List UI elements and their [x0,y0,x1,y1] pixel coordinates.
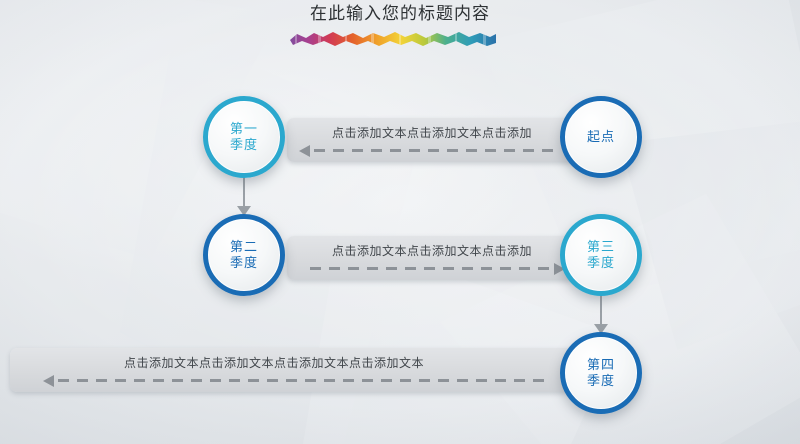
node-q3-label: 第三 季度 [587,239,615,271]
node-q2-label: 第二 季度 [230,239,258,271]
slide-canvas: 在此输入您的标题内容 [0,0,800,444]
node-q1-label: 第一 季度 [230,121,258,153]
slide-title: 在此输入您的标题内容 [0,3,800,25]
dashed-line [58,379,546,382]
node-q1[interactable]: 第一 季度 [203,96,285,178]
arrow-bar-bottom[interactable]: 点击添加文本点击添加文本点击添加文本点击添加文本 [10,348,580,392]
node-q2[interactable]: 第二 季度 [203,214,285,296]
arrow-bar-middle-label: 点击添加文本点击添加文本点击添加 [287,242,577,259]
node-start-label: 起点 [587,129,615,145]
rainbow-brush-stroke-icon [287,29,499,48]
dashed-line [314,149,554,152]
arrow-bar-top[interactable]: 点击添加文本点击添加文本点击添加 [287,118,577,162]
slide-title-text: 在此输入您的标题内容 [0,3,800,25]
node-q4-label: 第四 季度 [587,357,615,389]
node-q4[interactable]: 第四 季度 [560,332,642,414]
connector-stem [243,176,245,208]
connector-q3-to-q4 [594,294,608,334]
arrow-left-icon [299,145,310,157]
arrow-bar-top-label: 点击添加文本点击添加文本点击添加 [287,124,577,141]
arrow-bar-middle[interactable]: 点击添加文本点击添加文本点击添加 [287,236,577,280]
arrow-left-icon [43,375,54,387]
dashed-line [310,267,550,270]
arrow-bar-bottom-label: 点击添加文本点击添加文本点击添加文本点击添加文本 [10,354,538,371]
connector-q1-to-q2 [237,176,251,216]
connector-stem [600,294,602,326]
node-start[interactable]: 起点 [560,96,642,178]
node-q3[interactable]: 第三 季度 [560,214,642,296]
